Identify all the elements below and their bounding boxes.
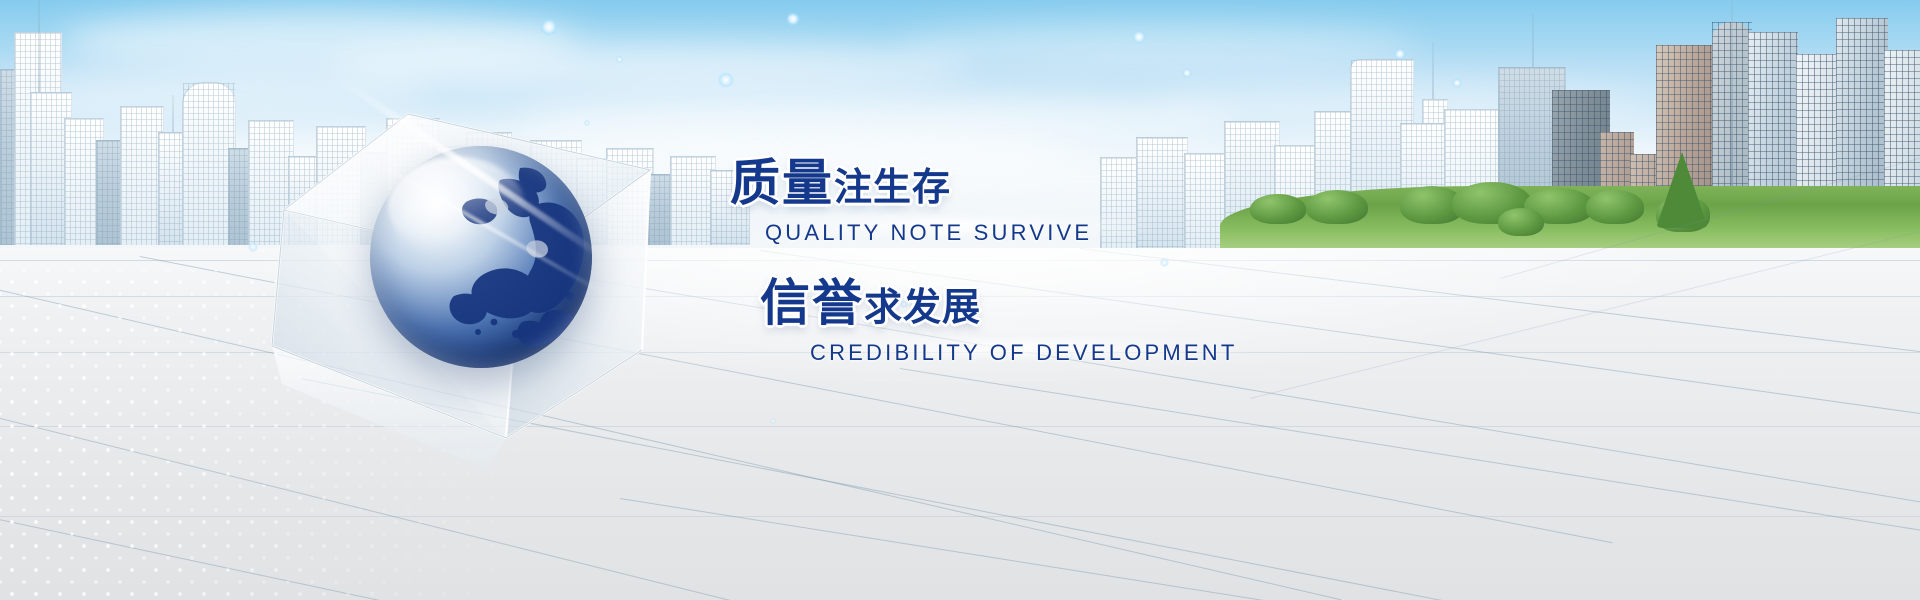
sparkle-icon bbox=[1132, 30, 1146, 44]
sparkle-icon bbox=[718, 72, 734, 88]
slogan-2-subtitle: CREDIBILITY OF DEVELOPMENT bbox=[810, 340, 1238, 366]
slogan-1-subtitle: QUALITY NOTE SURVIVE bbox=[765, 220, 1092, 246]
globe-icon bbox=[370, 146, 592, 368]
sparkle-icon bbox=[1182, 68, 1192, 78]
city-skyline-right bbox=[1100, 0, 1920, 250]
slogan-2-headline: 信誉求发展 bbox=[760, 278, 981, 328]
sparkle-icon bbox=[1160, 258, 1169, 267]
sparkle-icon bbox=[584, 120, 590, 126]
slogan-2-headline-secondary: 求发展 bbox=[864, 287, 981, 329]
slogan-1-headline: 质量注生存 bbox=[730, 158, 951, 208]
sparkle-icon bbox=[1394, 48, 1406, 60]
sparkle-icon bbox=[786, 12, 800, 26]
slogan-1-headline-secondary: 注生存 bbox=[834, 167, 951, 209]
sparkle-icon bbox=[616, 56, 623, 63]
hero-banner: 质量注生存 QUALITY NOTE SURVIVE 信誉求发展 CREDIBI… bbox=[0, 0, 1920, 600]
sparkle-icon bbox=[540, 18, 558, 36]
slogan-2-headline-primary: 信誉 bbox=[760, 275, 864, 331]
slogan-1-headline-primary: 质量 bbox=[730, 155, 834, 211]
sparkle-icon bbox=[770, 418, 776, 424]
sparkle-icon bbox=[248, 242, 258, 252]
sparkle-icon bbox=[1452, 78, 1462, 88]
